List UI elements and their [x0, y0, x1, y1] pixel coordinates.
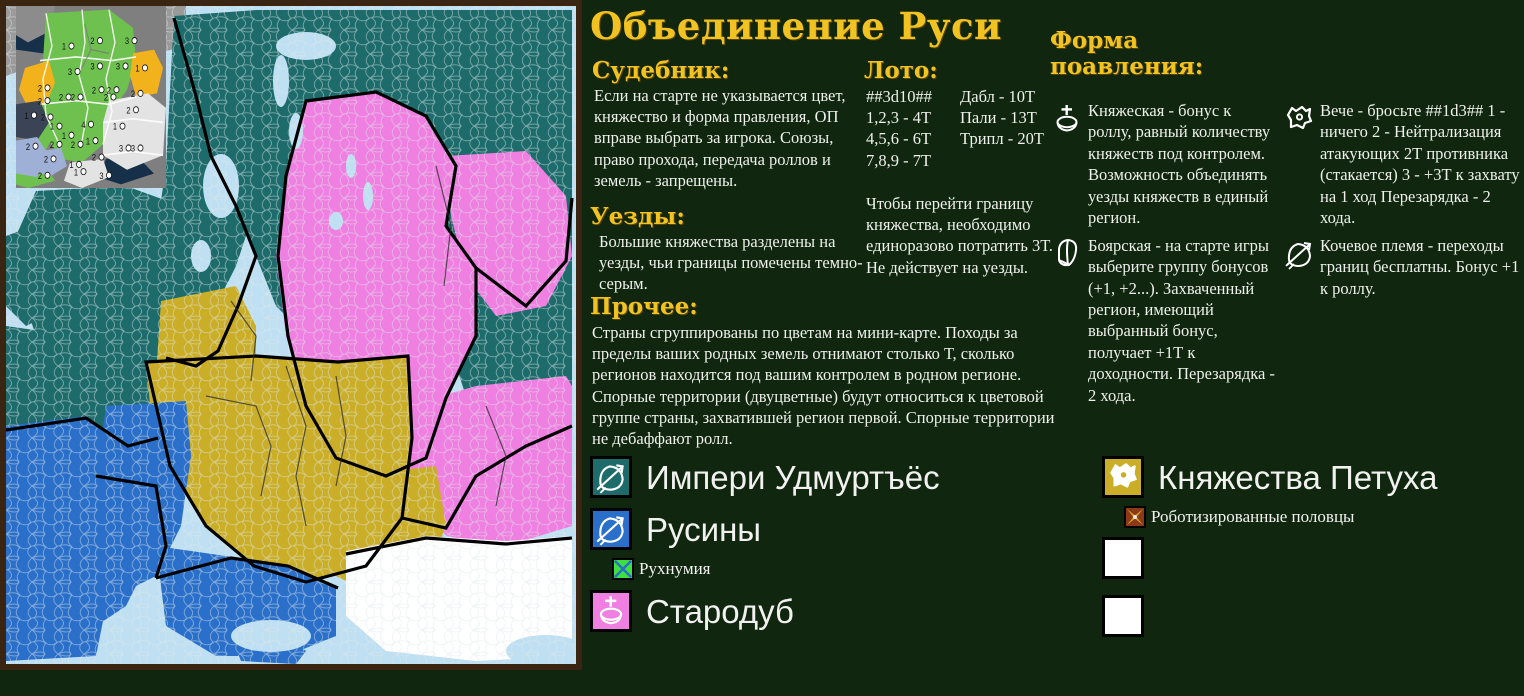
- svg-text:2: 2: [50, 139, 54, 150]
- legend-row-udmurtyos[interactable]: Импери Удмуртъёс: [590, 455, 1050, 499]
- faction-badge: [590, 508, 632, 550]
- bow-arrow-icon: [1282, 237, 1316, 271]
- loto-cell: ##3d10##: [866, 86, 954, 107]
- subfaction-name: Роботизированные половцы: [1151, 507, 1354, 527]
- subfaction-badge: [612, 558, 634, 580]
- svg-text:1: 1: [86, 136, 90, 147]
- svg-text:2: 2: [41, 112, 45, 123]
- svg-text:2: 2: [26, 141, 30, 152]
- svg-text:1: 1: [24, 110, 28, 121]
- loto-cell: Пали - 13Т: [960, 107, 1064, 128]
- government-column-left: Княжеская - бонус к роллу, равный количе…: [1050, 100, 1275, 412]
- loto-table: ##3d10## Дабл - 10Т 1,2,3 - 4Т Пали - 13…: [866, 86, 1064, 171]
- section-loto: Лото: ##3d10## Дабл - 10Т 1,2,3 - 4Т Пал…: [864, 58, 1064, 278]
- svg-text:1: 1: [113, 121, 117, 132]
- svg-text:2: 2: [92, 152, 96, 163]
- svg-text:2: 2: [71, 139, 75, 150]
- section-uezdy: Уезды: Большие княжества разделены на уе…: [590, 204, 880, 295]
- x-cross-icon: [1126, 508, 1144, 526]
- svg-text:2: 2: [131, 88, 135, 99]
- church-dome-icon: [593, 593, 629, 629]
- main-map[interactable]: 1233331222222221221411221223311232: [6, 6, 576, 664]
- svg-text:2: 2: [44, 154, 48, 165]
- faction-badge: [590, 456, 632, 498]
- government-item-text: Княжеская - бонус к роллу, равный количе…: [1088, 100, 1275, 229]
- x-cross-icon: [614, 560, 632, 578]
- faction-legend: Импери Удмуртъёс Русины: [582, 455, 1524, 685]
- legend-row-starodub[interactable]: Стародуб: [590, 589, 1050, 633]
- loto-header: Лото:: [864, 58, 1064, 84]
- svg-text:1: 1: [62, 41, 66, 52]
- legend-row-rusiny[interactable]: Русины: [590, 507, 1050, 551]
- info-panel: Объединение Руси Судебник: Если на старт…: [582, 0, 1524, 696]
- loto-cell: 4,5,6 - 6Т: [866, 128, 954, 149]
- mini-map[interactable]: 1233331222222221221411221223311232: [16, 6, 166, 188]
- loto-note: Чтобы перейти границу княжества, необход…: [866, 193, 1064, 278]
- prochee-body: Страны сгруппированы по цветам на мини-к…: [592, 322, 1062, 450]
- subfaction-name: Рухнумия: [639, 559, 711, 579]
- svg-text:2: 2: [38, 83, 42, 94]
- legend-subrow-polovtsy[interactable]: Роботизированные половцы: [1124, 505, 1522, 529]
- prochee-header: Прочее:: [590, 294, 1062, 320]
- svg-text:2: 2: [104, 92, 108, 103]
- government-item-veche: Вече - бросьте ##1d3## 1 - ничего 2 - Не…: [1282, 100, 1524, 229]
- svg-text:4: 4: [81, 119, 85, 130]
- faction-badge: [1102, 456, 1144, 498]
- svg-text:3: 3: [99, 170, 103, 181]
- legend-blank-badge-1[interactable]: [1102, 537, 1144, 579]
- svg-text:1: 1: [62, 130, 66, 141]
- uezdy-header: Уезды:: [590, 204, 880, 230]
- sudebnik-header: Судебник:: [592, 58, 873, 84]
- government-item-knyazheskaya: Княжеская - бонус к роллу, равный количе…: [1050, 100, 1275, 229]
- uezdy-body: Большие княжества разделены на уезды, чь…: [599, 231, 880, 295]
- government-column-right: Вече - бросьте ##1d3## 1 - ничего 2 - Не…: [1282, 100, 1524, 305]
- faction-name: Княжества Петуха: [1158, 461, 1438, 494]
- boyar-hat-icon: [1050, 237, 1084, 271]
- svg-text:1: 1: [135, 63, 139, 74]
- government-item-text: Кочевое племя - переходы границ бесплатн…: [1320, 235, 1524, 299]
- section-sudebnik: Судебник: Если на старте не указывается …: [590, 58, 873, 191]
- svg-text:1: 1: [74, 167, 78, 178]
- church-dome-icon: [1050, 102, 1084, 136]
- svg-text:3: 3: [125, 35, 129, 46]
- veche-bell-icon: [1105, 459, 1141, 495]
- government-item-kochevoe-plemya: Кочевое племя - переходы границ бесплатн…: [1282, 235, 1524, 299]
- veche-bell-icon: [1282, 102, 1316, 136]
- svg-text:2: 2: [38, 96, 42, 107]
- government-item-text: Вече - бросьте ##1d3## 1 - ничего 2 - Не…: [1320, 100, 1524, 229]
- bow-arrow-icon: [593, 511, 629, 547]
- page-title: Объединение Руси: [590, 8, 1002, 45]
- forma-header-line2: поавления:: [1050, 54, 1190, 80]
- svg-text:3: 3: [68, 66, 72, 77]
- legend-subrow-ruhnumiya[interactable]: Рухнумия: [612, 557, 1050, 581]
- loto-cell: 1,2,3 - 4Т: [866, 107, 954, 128]
- section-forma: Форма поавления:: [1050, 28, 1520, 80]
- loto-cell: Дабл - 10Т: [960, 86, 1064, 107]
- legend-row-petuha[interactable]: Княжества Петуха: [1102, 455, 1522, 499]
- svg-text:3: 3: [116, 61, 120, 72]
- faction-badge: [590, 590, 632, 632]
- svg-text:2: 2: [71, 92, 75, 103]
- government-item-text: Боярская - на старте игры выберите групп…: [1088, 235, 1275, 407]
- loto-cell: 7,8,9 - 7Т: [866, 150, 954, 171]
- faction-name: Русины: [646, 513, 761, 546]
- subfaction-badge: [1124, 506, 1146, 528]
- loto-cell: [960, 150, 1064, 171]
- faction-name: Импери Удмуртъёс: [646, 461, 940, 494]
- legend-column-left: Импери Удмуртъёс Русины: [590, 455, 1050, 641]
- svg-text:3: 3: [131, 143, 135, 154]
- faction-name: Стародуб: [646, 595, 794, 628]
- loto-cell: Трипл - 20Т: [960, 128, 1064, 149]
- svg-text:2: 2: [59, 92, 63, 103]
- svg-text:1: 1: [50, 121, 54, 132]
- map-panel: 1233331222222221221411221223311232: [0, 0, 582, 670]
- mini-map-graphic: 1233331222222221221411221223311232: [16, 6, 166, 188]
- sudebnik-body: Если на старте не указывается цвет, княж…: [594, 85, 873, 191]
- government-item-boyarskaya: Боярская - на старте игры выберите групп…: [1050, 235, 1275, 407]
- svg-text:3: 3: [119, 143, 123, 154]
- svg-text:2: 2: [38, 170, 42, 181]
- svg-text:3: 3: [90, 61, 94, 72]
- svg-text:2: 2: [90, 35, 94, 46]
- svg-text:2: 2: [126, 105, 130, 116]
- bow-arrow-icon: [593, 459, 629, 495]
- svg-text:2: 2: [92, 85, 96, 96]
- forma-header-line1: Форма: [1050, 28, 1190, 54]
- legend-blank-badge-2[interactable]: [1102, 595, 1144, 637]
- section-prochee: Прочее: Страны сгруппированы по цветам н…: [590, 294, 1062, 449]
- legend-column-right: Княжества Петуха Роботизированные половц…: [1102, 455, 1522, 653]
